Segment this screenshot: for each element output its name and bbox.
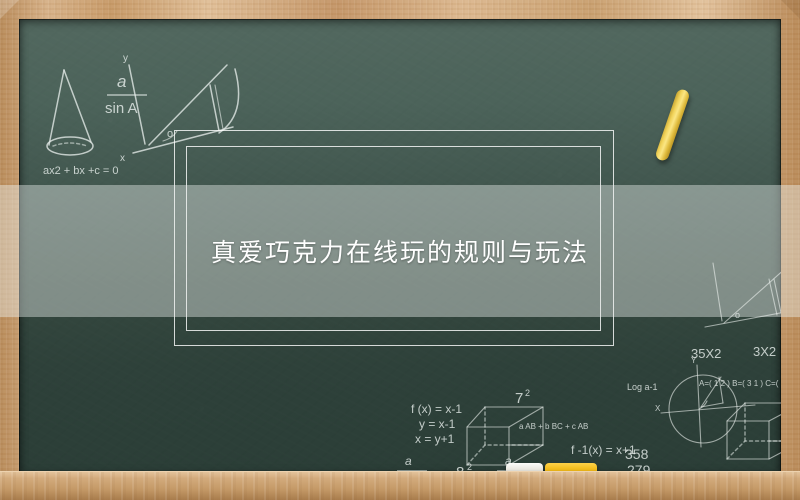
chalk-unit-circle: Y X bbox=[651, 355, 767, 459]
chalk-function-equations: f (x) = x-1 y = x-1 x = y+1 bbox=[411, 401, 521, 463]
chalk-cube-right bbox=[723, 397, 781, 477]
chalk-inverse-function: f -1(x) = x+1 bbox=[571, 439, 681, 463]
svg-text:a: a bbox=[117, 72, 126, 91]
chalk-ledge bbox=[0, 472, 800, 500]
svg-text:2: 2 bbox=[525, 388, 530, 398]
chalk-mult-35x2: 35X2 bbox=[691, 343, 737, 365]
chalk-log-note: Log a-1 bbox=[627, 377, 687, 397]
chalk-mult-3x2: 3X2 bbox=[753, 341, 781, 363]
svg-text:ax2 + bx +c = 0: ax2 + bx +c = 0 bbox=[43, 165, 119, 177]
chalk-quadratic-equation: ax2 + bx +c = 0 bbox=[43, 159, 223, 185]
svg-text:a AB + b BC + c AB: a AB + b BC + c AB bbox=[519, 422, 588, 431]
screenshot-stage: a sin A ax2 + bx +c = 0 y x bbox=[0, 0, 800, 500]
svg-text:A=( 1 2 ) B=( 3 1 ) C=( 2 3 ): A=( 1 2 ) B=( 3 1 ) C=( 2 3 ) bbox=[699, 379, 781, 388]
svg-text:o: o bbox=[167, 128, 173, 140]
svg-text:a: a bbox=[405, 454, 412, 468]
svg-text:x: x bbox=[120, 153, 125, 164]
svg-text:7: 7 bbox=[515, 390, 523, 407]
svg-text:Log a-1: Log a-1 bbox=[627, 382, 658, 392]
chalk-matrix-row: A=( 1 2 ) B=( 3 1 ) C=( 2 3 ) bbox=[699, 373, 781, 395]
svg-text:35X2: 35X2 bbox=[691, 346, 721, 361]
svg-text:f -1(x) = x+1: f -1(x) = x+1 bbox=[571, 443, 636, 457]
svg-text:y = x-1: y = x-1 bbox=[419, 417, 456, 431]
page-title: 真爱巧克力在线玩的规则与玩法 bbox=[211, 233, 589, 269]
svg-text:x = y+1: x = y+1 bbox=[415, 432, 455, 446]
chalk-vector-note: a AB + b BC + c AB bbox=[519, 417, 629, 437]
svg-text:X: X bbox=[655, 404, 661, 413]
chalk-cone-icon: a sin A bbox=[31, 47, 211, 177]
chalk-power-seven: 7 2 bbox=[515, 387, 549, 413]
title-band: 真爱巧克力在线玩的规则与玩法 bbox=[0, 185, 800, 317]
svg-text:y: y bbox=[123, 53, 128, 64]
frame-corner-top-right bbox=[781, 0, 800, 19]
chalk-angle-diagram-top: y x o bbox=[107, 49, 237, 174]
frame-corner-top-left bbox=[0, 0, 19, 19]
svg-text:358: 358 bbox=[625, 446, 649, 462]
svg-text:Y: Y bbox=[691, 356, 697, 365]
svg-text:3X2: 3X2 bbox=[753, 344, 776, 359]
svg-text:f (x) = x-1: f (x) = x-1 bbox=[411, 402, 462, 416]
svg-text:sin A: sin A bbox=[105, 100, 138, 117]
